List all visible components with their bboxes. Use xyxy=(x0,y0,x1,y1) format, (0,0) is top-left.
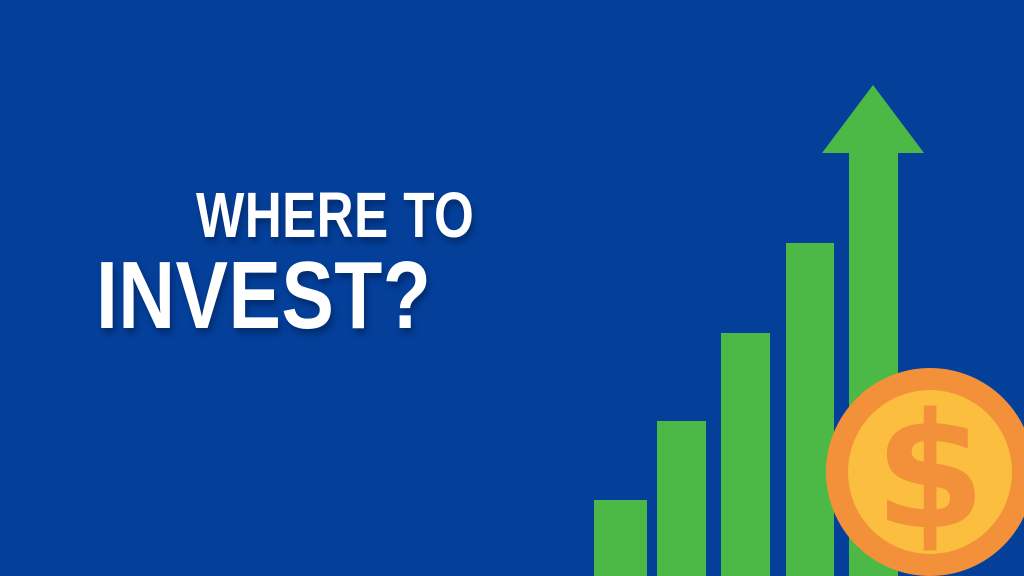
growth-chart-graphic: $ xyxy=(0,0,1024,576)
poster-canvas: $ WHERE TO INVEST? xyxy=(0,0,1024,576)
chart-bar-2 xyxy=(657,421,706,576)
chart-bar-4 xyxy=(786,243,834,576)
up-arrow-head-icon xyxy=(822,85,924,153)
coin-face: $ xyxy=(848,390,1012,554)
chart-bar-1 xyxy=(594,500,647,576)
dollar-sign-glyph: $ xyxy=(848,390,1012,554)
dollar-coin-icon: $ xyxy=(826,368,1024,576)
chart-bar-3 xyxy=(721,333,770,576)
